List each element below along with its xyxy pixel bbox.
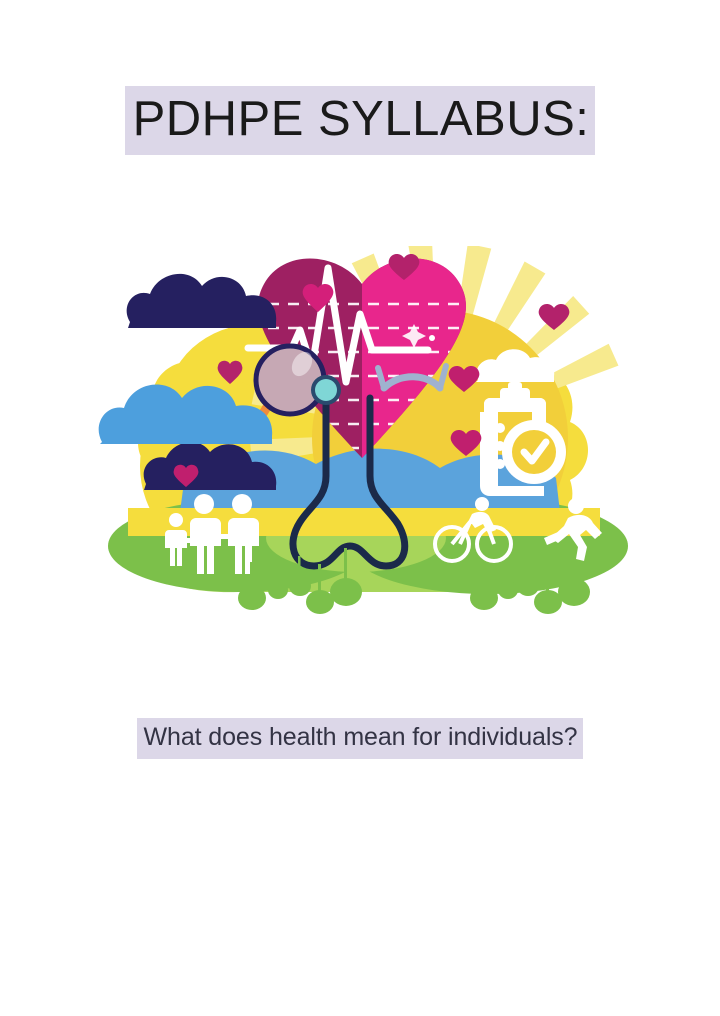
document-page: PDHPE SYLLABUS: [0,0,720,1016]
stethoscope-chestpiece [311,375,341,405]
page-caption: What does health mean for individuals? [0,718,720,759]
illustration-svg [88,246,636,628]
health-and-wellbeing-illustration [88,246,636,628]
checkmark-icon [512,430,556,474]
page-title: PDHPE SYLLABUS: [0,86,720,155]
page-title-text: PDHPE SYLLABUS: [125,86,596,155]
navy-cloud [127,274,277,328]
page-caption-text: What does health mean for individuals? [137,718,584,759]
